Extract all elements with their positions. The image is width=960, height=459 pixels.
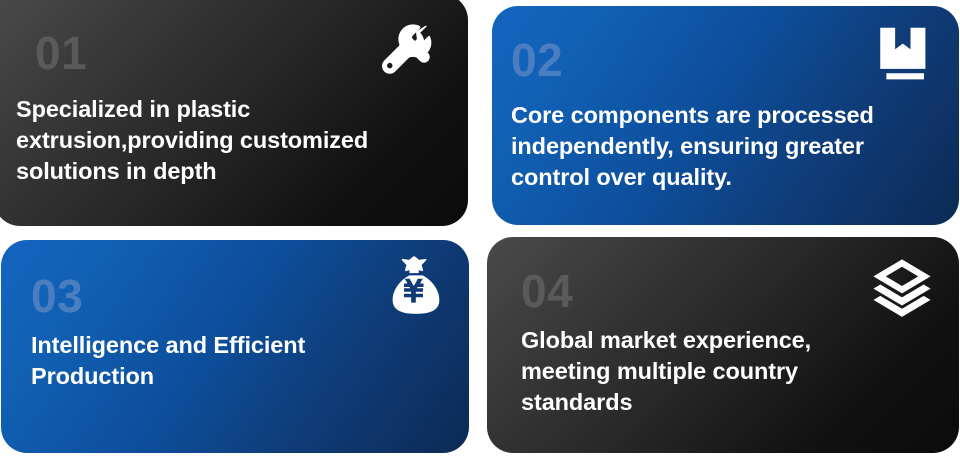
feature-card-01[interactable]: 01 Specialized in plastic extrusion,prov… bbox=[0, 0, 468, 226]
layers-stack-icon bbox=[871, 257, 933, 319]
card-number-01: 01 bbox=[35, 30, 87, 76]
book-bookmark-icon bbox=[877, 26, 929, 82]
card-title-04: Global market experience, meeting multip… bbox=[521, 325, 921, 418]
card-content-04: 04 Global market experience, meeting mul… bbox=[487, 237, 959, 453]
card-title-02: Core components are processed independen… bbox=[511, 100, 951, 193]
wrench-icon bbox=[374, 20, 436, 82]
card-number-02: 02 bbox=[511, 37, 563, 83]
card-number-03: 03 bbox=[31, 273, 83, 319]
card-content-02: 02 Core components are processed indepen… bbox=[492, 6, 959, 225]
card-number-04: 04 bbox=[521, 268, 573, 314]
card-title-01: Specialized in plastic extrusion,providi… bbox=[16, 94, 436, 187]
card-title-03: Intelligence and Efficient Production bbox=[31, 330, 431, 392]
feature-card-02[interactable]: 02 Core components are processed indepen… bbox=[492, 6, 959, 225]
feature-card-03[interactable]: 03 Intelligence and Efficient Production bbox=[1, 240, 469, 453]
money-bag-yen-icon bbox=[385, 254, 447, 316]
feature-card-04[interactable]: 04 Global market experience, meeting mul… bbox=[487, 237, 959, 453]
card-content-03: 03 Intelligence and Efficient Production bbox=[1, 240, 469, 453]
feature-card-grid: 01 Specialized in plastic extrusion,prov… bbox=[0, 0, 960, 459]
card-content-01: 01 Specialized in plastic extrusion,prov… bbox=[0, 0, 468, 226]
